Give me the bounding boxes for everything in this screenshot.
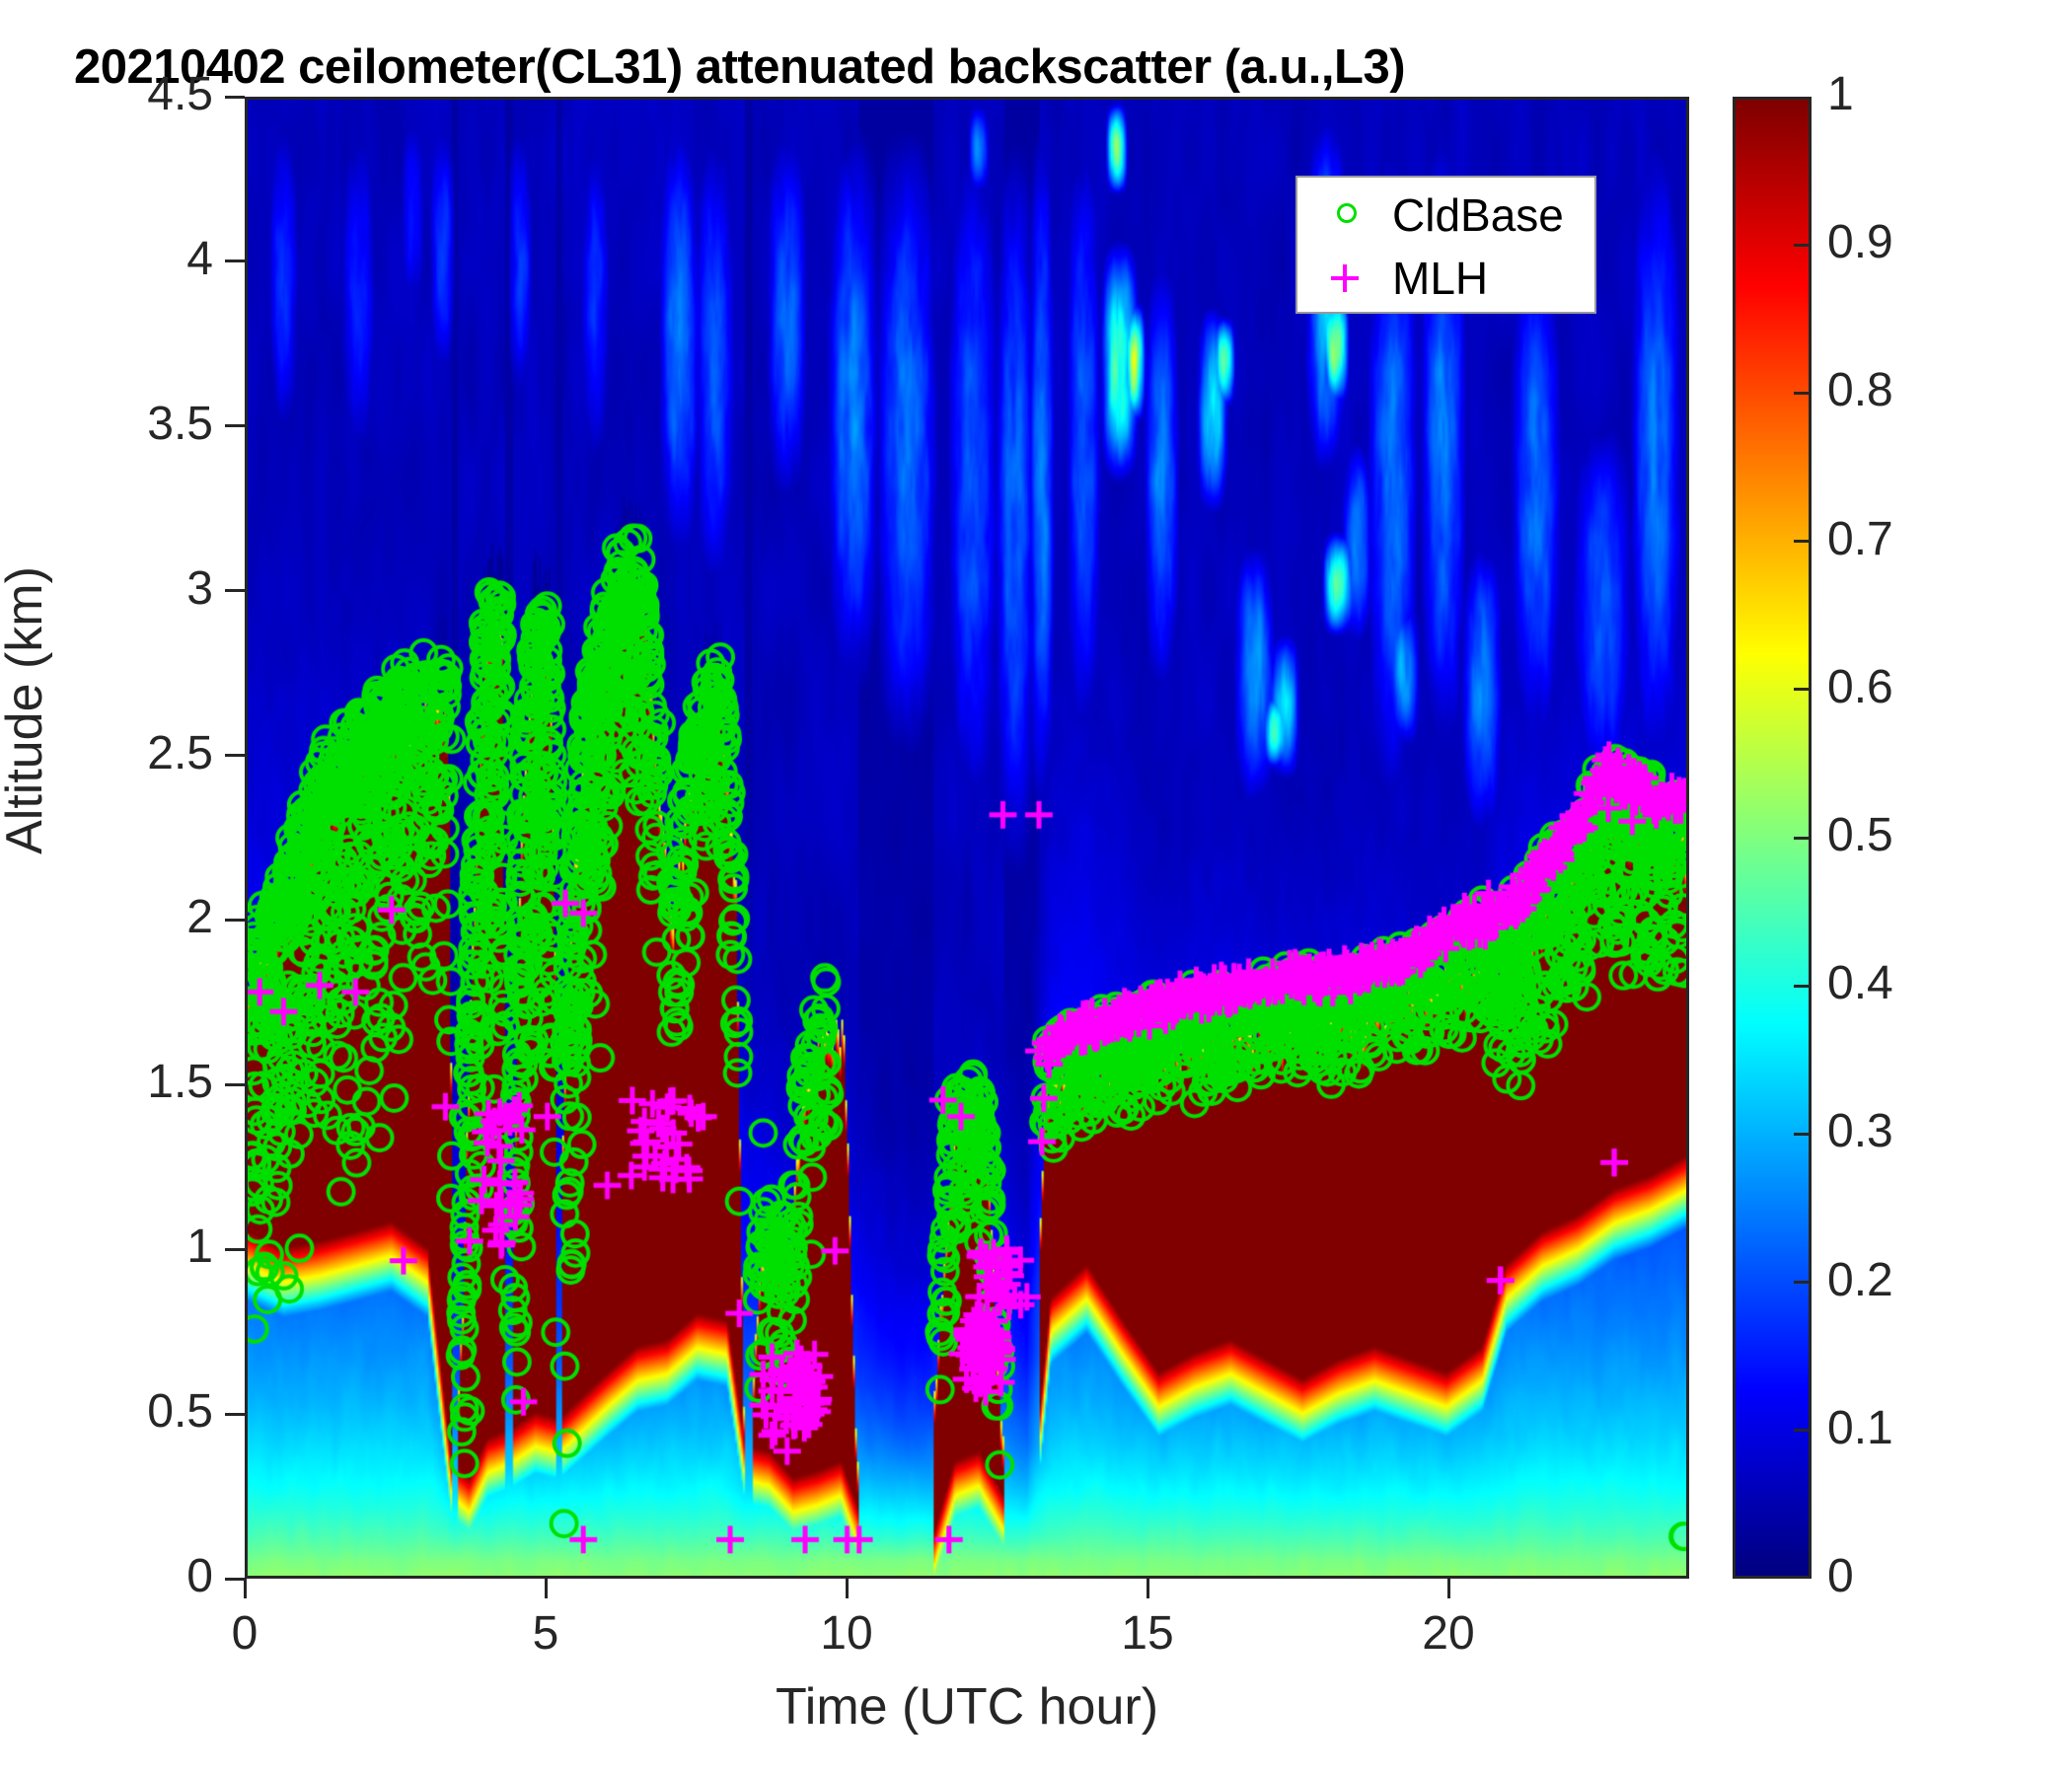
circle-marker-icon [1317, 185, 1386, 245]
legend-label-cldbase: CldBase [1392, 187, 1564, 243]
legend-entry-mlh: MLH [1297, 249, 1594, 308]
y-tick-label: 1 [36, 1223, 213, 1271]
legend-entry-cldbase: CldBase [1297, 185, 1594, 245]
y-tick-label: 3.5 [36, 401, 213, 448]
colorbar-tick-label: 0.5 [1827, 812, 1893, 859]
y-tick-mark [225, 1578, 245, 1581]
x-tick-label: 20 [1369, 1610, 1527, 1658]
colorbar-tick-mark [1794, 1281, 1812, 1284]
y-tick-mark [225, 754, 245, 757]
y-tick-label: 0 [36, 1553, 213, 1600]
colorbar-tick-label: 0.4 [1827, 960, 1893, 1007]
y-tick-mark [225, 424, 245, 427]
x-tick-label: 0 [166, 1610, 324, 1658]
y-tick-label: 2 [36, 894, 213, 941]
plus-marker-icon [1317, 249, 1386, 308]
y-tick-mark [225, 96, 245, 99]
x-tick-mark [545, 1579, 548, 1598]
colorbar-tick-mark [1794, 1133, 1812, 1136]
colorbar-tick-label: 0.3 [1827, 1108, 1893, 1155]
colorbar-tick-mark [1794, 837, 1812, 840]
y-tick-mark [225, 919, 245, 922]
legend-label-mlh: MLH [1392, 251, 1488, 306]
y-tick-mark [225, 259, 245, 262]
y-axis-label: Altitude (km) [0, 454, 54, 967]
colorbar-tick-mark [1794, 985, 1812, 988]
colorbar-tick-label: 0.2 [1827, 1257, 1893, 1304]
colorbar-tick-mark [1794, 540, 1812, 543]
x-axis-label: Time (UTC hour) [245, 1677, 1689, 1737]
chart-title: 20210402 ceilometer(CL31) attenuated bac… [74, 39, 1751, 99]
y-tick-label: 4 [36, 236, 213, 283]
y-tick-mark [225, 1083, 245, 1086]
chart-root: 20210402 ceilometer(CL31) attenuated bac… [0, 0, 2072, 1776]
scatter-overlay [248, 100, 1686, 1576]
legend: CldBase MLH [1295, 176, 1596, 314]
colorbar-tick-label: 0.1 [1827, 1405, 1893, 1452]
colorbar-tick-label: 0.8 [1827, 367, 1893, 414]
colorbar-tick-mark [1794, 244, 1812, 247]
colorbar-tick-label: 1 [1827, 71, 1854, 118]
y-tick-label: 3 [36, 565, 213, 613]
y-tick-label: 4.5 [36, 71, 213, 118]
x-tick-label: 15 [1069, 1610, 1226, 1658]
x-tick-label: 5 [467, 1610, 625, 1658]
y-tick-label: 1.5 [36, 1059, 213, 1106]
colorbar-tick-mark [1794, 392, 1812, 395]
plot-area [245, 97, 1689, 1579]
x-tick-mark [1447, 1579, 1450, 1598]
colorbar-tick-label: 0.6 [1827, 664, 1893, 711]
x-tick-mark [846, 1579, 849, 1598]
y-tick-mark [225, 1413, 245, 1416]
colorbar-tick-mark [1794, 1429, 1812, 1432]
y-tick-mark [225, 589, 245, 592]
x-tick-mark [1147, 1579, 1149, 1598]
colorbar-tick-mark [1794, 688, 1812, 691]
x-tick-label: 10 [768, 1610, 925, 1658]
y-tick-label: 0.5 [36, 1388, 213, 1436]
colorbar-tick-label: 0.7 [1827, 516, 1893, 563]
y-tick-mark [225, 1248, 245, 1251]
colorbar-tick-label: 0.9 [1827, 219, 1893, 266]
x-tick-mark [244, 1579, 247, 1598]
colorbar-tick-label: 0 [1827, 1553, 1854, 1600]
y-tick-label: 2.5 [36, 730, 213, 777]
